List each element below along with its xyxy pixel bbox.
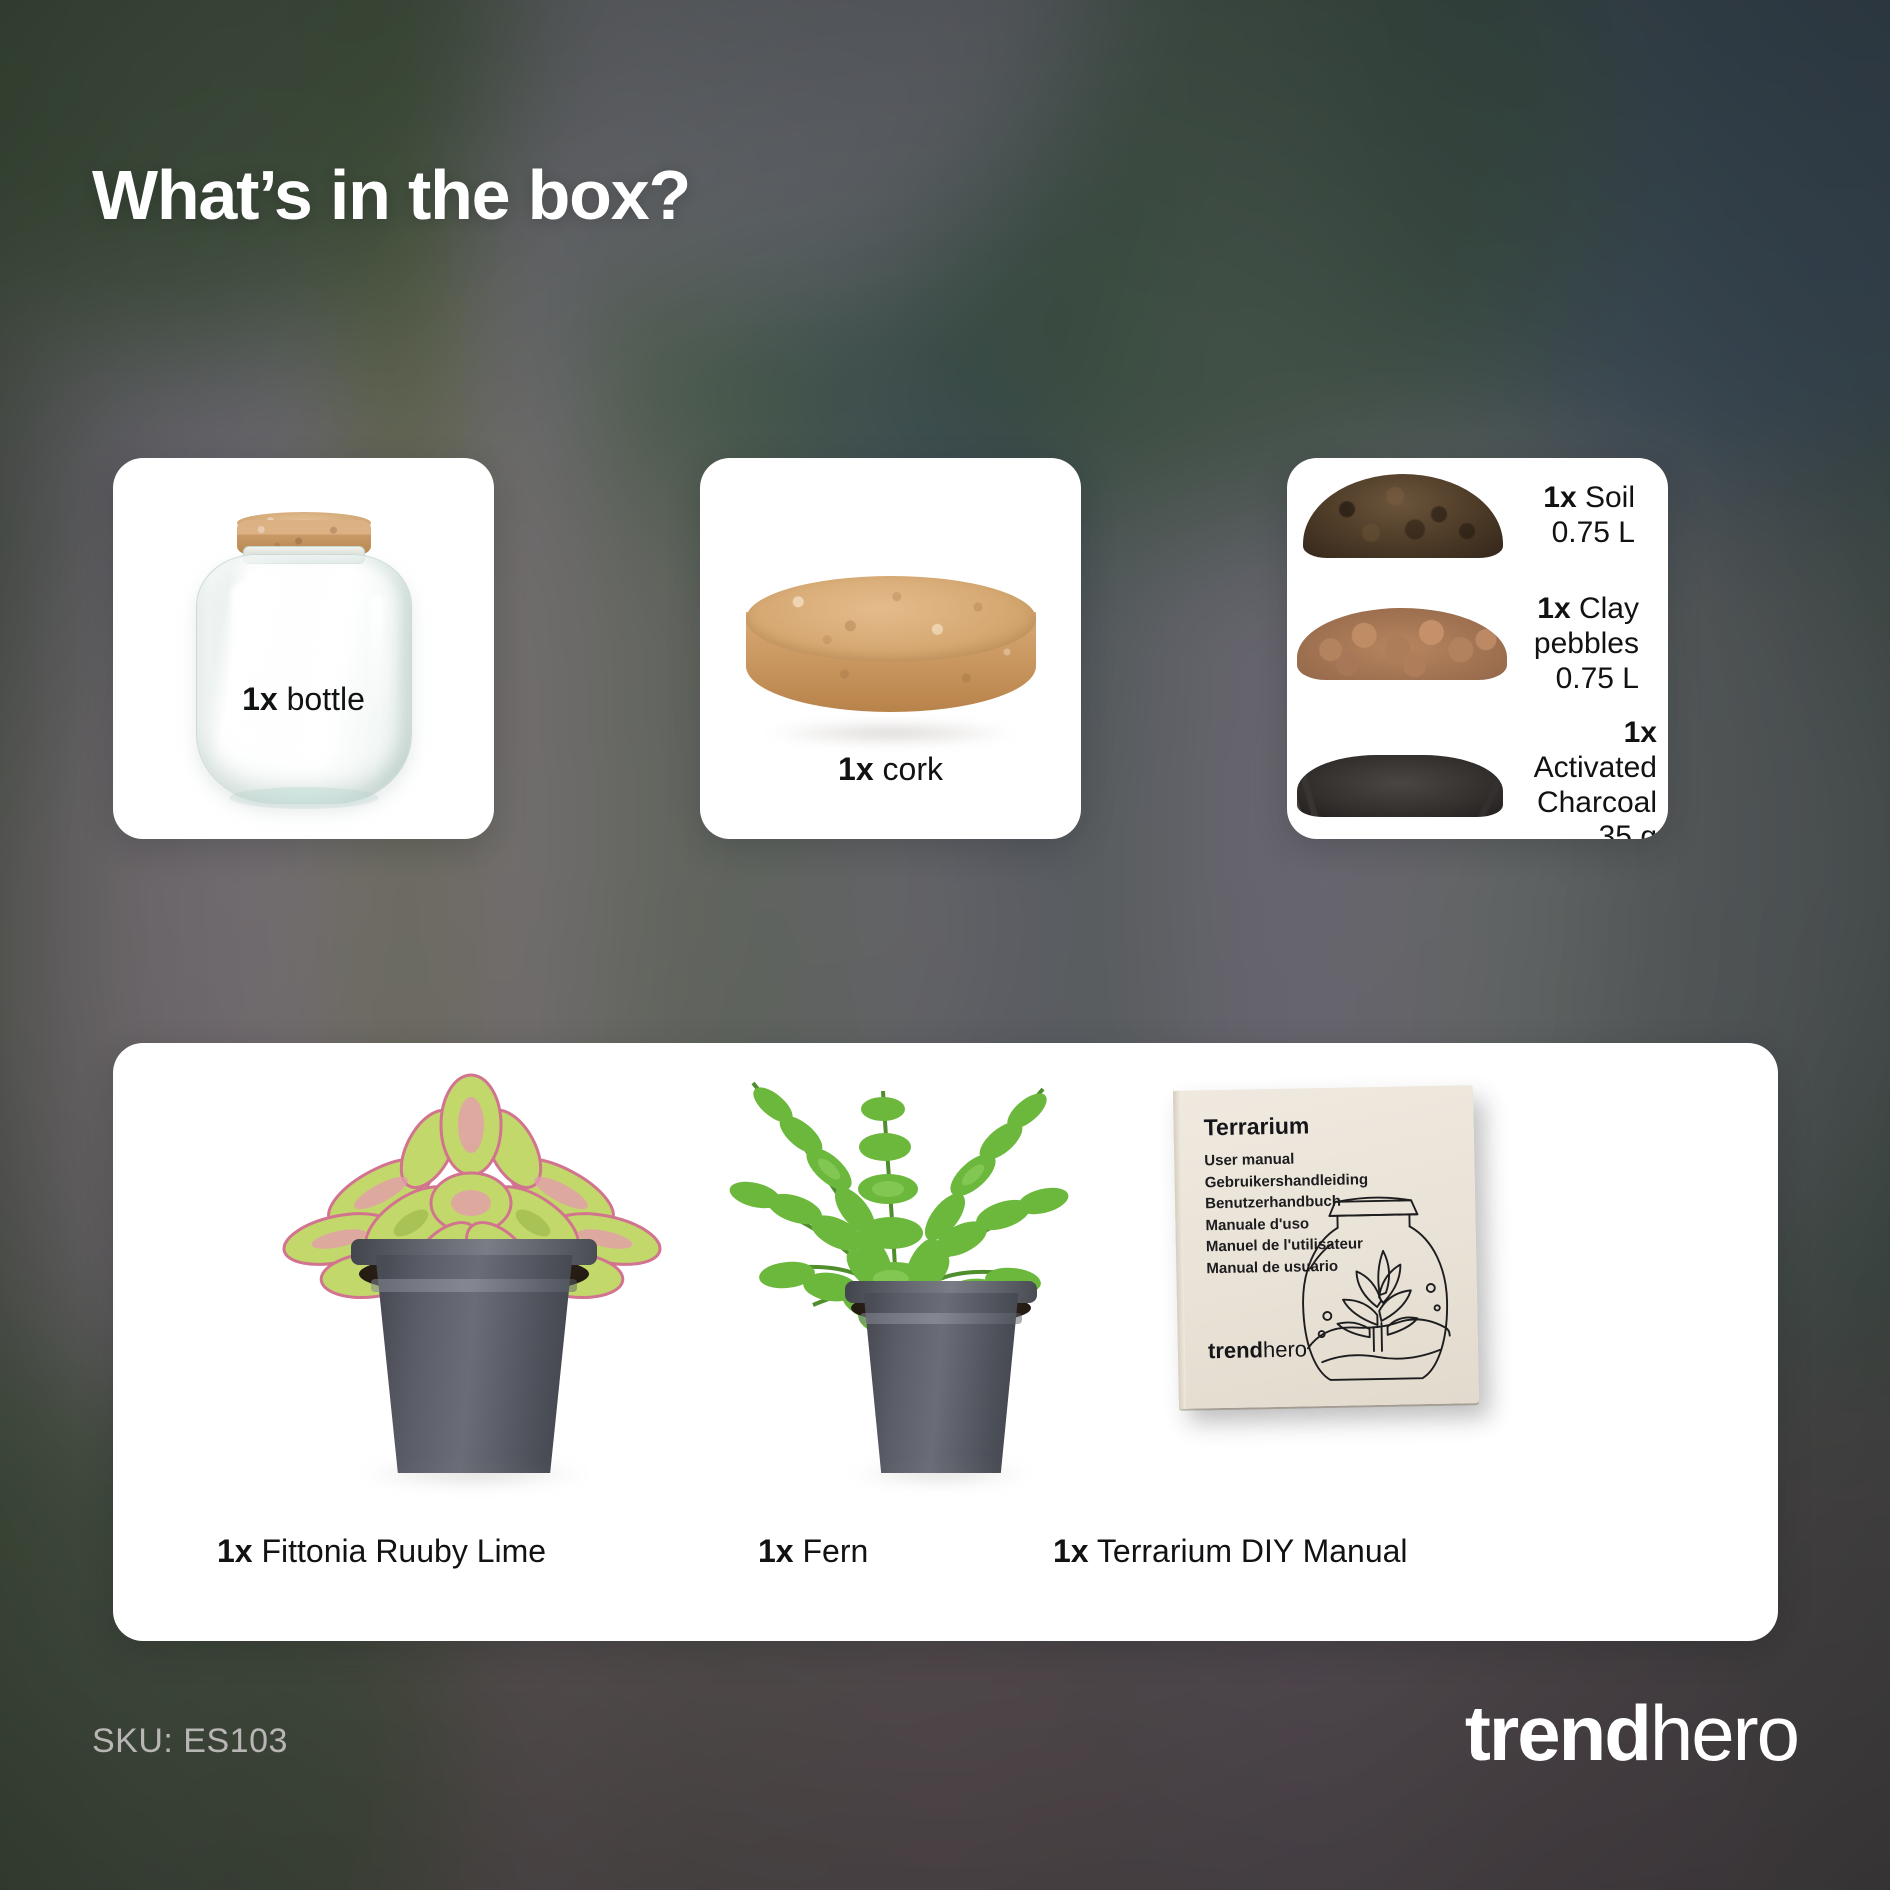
fern-pot-shadow [851,1463,1031,1485]
card-cork[interactable]: 1x cork [700,458,1081,839]
brand-logo-light: hero [1650,1689,1798,1777]
manual-lang-en: User manual [1204,1147,1368,1172]
brand-logo-bold: trend [1465,1689,1650,1777]
clay-name: Clay [1571,592,1639,625]
manual-brand-bold: trend [1208,1337,1263,1363]
soil-name: Soil [1577,481,1635,514]
clay-pebbles-icon [1297,608,1507,680]
bottle-label: bottle [278,681,365,717]
clay-qty: 1x [1537,592,1570,625]
page-title: What’s in the box? [92,160,690,230]
soil-amount: 0.75 L [1517,516,1635,551]
card-bottle[interactable]: 1x bottle [113,458,494,839]
card-cork-caption: 1x cork [838,751,943,788]
manual-booklet-icon: Terrarium User manual Gebruikershandleid… [1173,1085,1479,1409]
fern-qty: 1x [758,1533,794,1569]
manual-caption: 1x Terrarium DIY Manual [1053,1533,1408,1570]
activated-charcoal-icon [1297,755,1503,817]
fern-caption: 1x Fern [758,1533,868,1570]
card-bottle-caption: 1x bottle [242,681,365,718]
cork-qty: 1x [838,751,874,787]
charcoal-name: Activated [1534,751,1657,784]
terrarium-jar-line-drawing [1279,1173,1471,1389]
charcoal-name2: Charcoal [1507,786,1657,821]
fern-pot-band [860,1313,1022,1324]
fittonia-caption: 1x Fittonia Ruuby Lime [217,1533,546,1570]
substrate-row-soil: 1x Soil 0.75 L [1303,474,1635,558]
soil-label: 1x Soil 0.75 L [1517,481,1635,551]
cork-disc-icon [746,576,1036,726]
cork-label: cork [874,751,943,787]
charcoal-amount: 35 g [1507,820,1657,839]
card-plants-and-manual[interactable]: Terrarium User manual Gebruikershandleid… [113,1043,1778,1641]
fittonia-pot-band [371,1279,577,1292]
charcoal-label: 1x Activated Charcoal 35 g [1507,716,1657,839]
fittonia-label: Fittonia Ruuby Lime [253,1533,546,1569]
clay-name2: pebbles [1521,627,1639,662]
soil-qty: 1x [1543,481,1576,514]
clay-label: 1x Clay pebbles 0.75 L [1521,592,1639,696]
fittonia-qty: 1x [217,1533,253,1569]
sku-text: SKU: ES103 [92,1722,288,1761]
substrate-row-clay: 1x Clay pebbles 0.75 L [1297,592,1639,696]
soil-pile-icon [1303,474,1503,558]
glass-jar-with-cork-icon [113,458,494,839]
fern-label: Fern [794,1533,869,1569]
charcoal-qty: 1x [1624,716,1657,749]
manual-title: Terrarium [1203,1112,1309,1141]
bottle-qty: 1x [242,681,278,717]
clay-amount: 0.75 L [1521,662,1639,697]
substrate-row-charcoal: 1x Activated Charcoal 35 g [1297,716,1657,839]
manual-qty: 1x [1053,1533,1089,1569]
manual-label: Terrarium DIY Manual [1089,1533,1408,1569]
card-substrates[interactable]: 1x Soil 0.75 L 1x Clay pebbles 0.75 L 1x… [1287,458,1668,839]
fittonia-pot-shadow [361,1461,587,1487]
brand-logo: trendhero [1465,1694,1798,1772]
